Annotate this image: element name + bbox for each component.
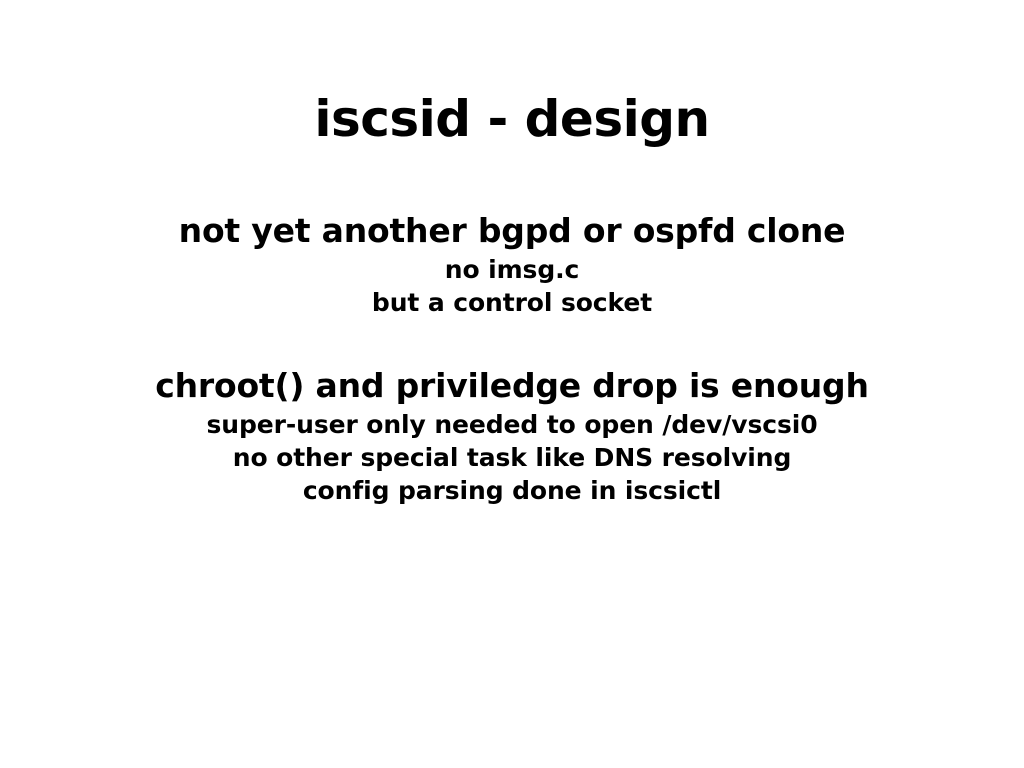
block-1-subline-2: but a control socket <box>0 286 1024 319</box>
presentation-slide: iscsid - design not yet another bgpd or … <box>0 0 1024 768</box>
block-2-subline-3: config parsing done in iscsictl <box>0 474 1024 507</box>
block-1-heading: not yet another bgpd or ospfd clone <box>0 210 1024 253</box>
block-separator <box>0 319 1024 365</box>
content-block-2: chroot() and priviledge drop is enough s… <box>0 365 1024 507</box>
block-2-heading: chroot() and priviledge drop is enough <box>0 365 1024 408</box>
content-block-1: not yet another bgpd or ospfd clone no i… <box>0 210 1024 319</box>
block-2-subline-2: no other special task like DNS resolving <box>0 441 1024 474</box>
page-title: iscsid - design <box>0 92 1024 146</box>
block-2-subline-1: super-user only needed to open /dev/vscs… <box>0 408 1024 441</box>
slide-body: not yet another bgpd or ospfd clone no i… <box>0 210 1024 507</box>
block-1-subline-1: no imsg.c <box>0 253 1024 286</box>
